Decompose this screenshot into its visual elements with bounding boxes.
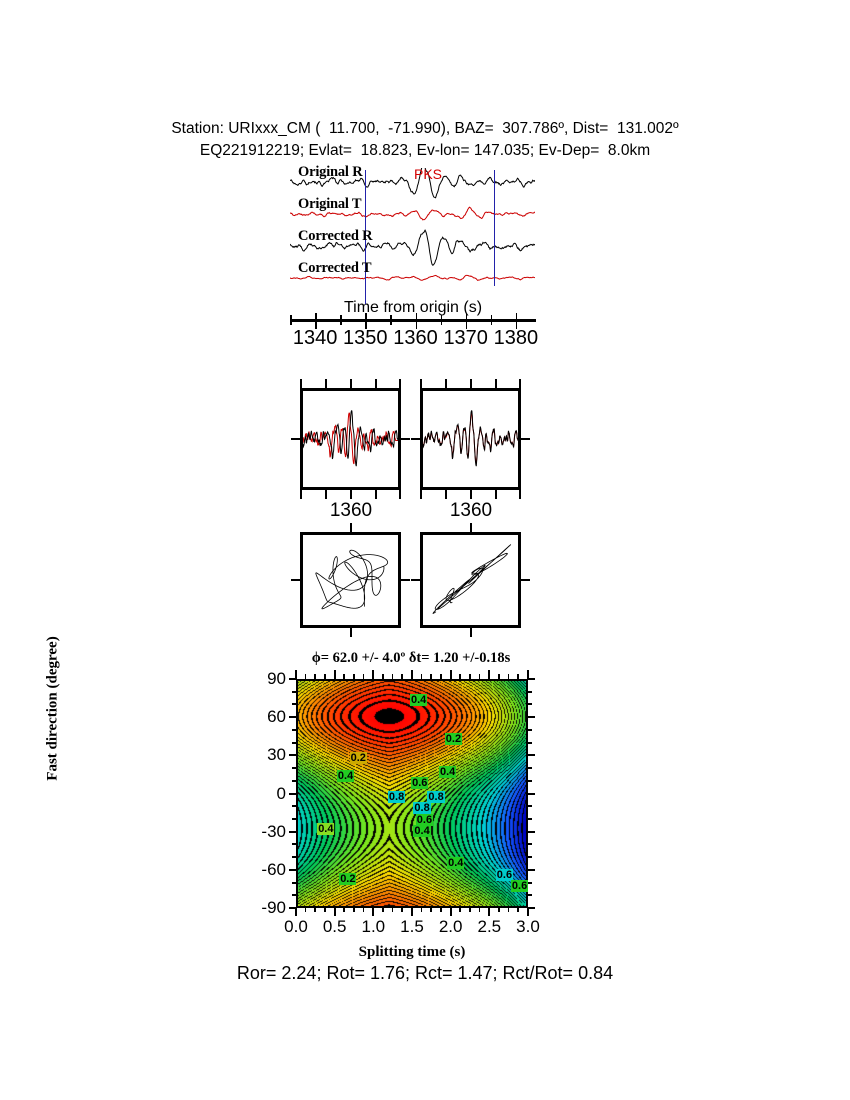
pm-left-btick (350, 628, 352, 637)
contour-right-tick (528, 869, 535, 871)
time-tick-minor (491, 315, 493, 325)
contour-right-tick (528, 831, 535, 833)
contour-y-tick-minor (292, 894, 296, 896)
contour-top-tick (488, 670, 490, 679)
contour-right-tick (528, 678, 535, 680)
contour-x-tick-minor (363, 908, 365, 912)
contour-x-tick-minor (401, 908, 403, 912)
contour-top-tick (334, 670, 336, 679)
pm-right-rtick (521, 579, 530, 581)
mid-left-tick-label: 1360 (327, 500, 375, 522)
contour-y-tick-label-30: 30 (236, 745, 286, 765)
mid-left-rtick (401, 438, 410, 440)
mid-left-tick-5 (399, 379, 401, 388)
contour-top-tick (508, 674, 510, 679)
particle-motion-box-before (300, 532, 401, 628)
mid-left-tick-2 (325, 379, 327, 388)
fast-slow-waveform-box-left (300, 388, 401, 490)
contour-top-tick (343, 674, 345, 679)
contour-y-tick--60 (289, 869, 296, 871)
pm-right-ttick (470, 523, 472, 532)
mid-right-tick-3 (470, 379, 472, 388)
contour-top-tick (517, 674, 519, 679)
trace-label-corrected-t: Corrected T (298, 260, 371, 277)
trace-label-original-r: Original R (298, 164, 362, 181)
event-info-line: EQ221912219; Evlat= 18.823, Ev-lon= 147.… (0, 140, 850, 162)
fast-slow-waveform-box-right (420, 388, 521, 490)
mid-left-tick-4 (375, 379, 377, 388)
contour-x-tick-minor (343, 908, 345, 912)
particle-motion-path (316, 550, 388, 609)
pm-right-btick (470, 628, 472, 637)
contour-right-tick (528, 691, 532, 693)
contour-top-tick (372, 670, 374, 679)
contour-x-tick-minor (353, 908, 355, 912)
contour-y-tick-label-0: 0 (236, 784, 286, 804)
mid-left-btick-3 (350, 490, 352, 499)
contour-y-tick-30 (289, 754, 296, 756)
mid-left-tick-1 (300, 379, 302, 388)
contour-x-tick-minor (382, 908, 384, 912)
contour-y-tick-label-60: 60 (236, 707, 286, 727)
waveform-panel: Original R Original T Corrected R Correc… (290, 168, 535, 298)
contour-top-tick (450, 670, 452, 679)
contour-x-tick-2.0 (450, 908, 452, 916)
contour-x-tick-minor (517, 908, 519, 912)
figure-header: Station: URIxxx_CM ( 11.700, -71.990), B… (0, 118, 850, 162)
mid-left-btick-1 (300, 490, 302, 499)
splitting-error-contour-plot (296, 679, 528, 908)
contour-y-tick--30 (289, 831, 296, 833)
contour-y-tick-label-90: 90 (236, 669, 286, 689)
contour-top-tick (479, 674, 481, 679)
time-tick-minor (290, 315, 292, 325)
contour-y-tick-label--30: -30 (236, 822, 286, 842)
contour-y-tick-minor (292, 856, 296, 858)
contour-top-tick (363, 674, 365, 679)
contour-y-tick-label--90: -90 (236, 898, 286, 918)
time-tick-label-1360: 1360 (388, 327, 444, 350)
pm-left-rtick (401, 579, 410, 581)
contour-right-tick (528, 754, 535, 756)
mid-right-btick-5 (519, 490, 521, 499)
pks-phase-label: PKS (414, 166, 442, 182)
contour-x-tick-minor (440, 908, 442, 912)
contour-x-tick-minor (430, 908, 432, 912)
contour-y-tick-0 (289, 793, 296, 795)
pm-right-ltick (411, 579, 420, 581)
contour-right-tick (528, 907, 535, 909)
contour-right-tick (528, 843, 532, 845)
phase-marker-line-right (494, 170, 495, 286)
contour-top-tick (401, 674, 403, 679)
time-tick-minor (441, 315, 443, 325)
contour-y-tick-minor (292, 767, 296, 769)
contour-top-tick (295, 670, 297, 679)
mid-right-tick-1 (420, 379, 422, 388)
contour-top-tick (440, 674, 442, 679)
contour-x-tick-minor (324, 908, 326, 912)
mid-right-btick-2 (445, 490, 447, 499)
mid-right-tick-4 (495, 379, 497, 388)
pm-left-ltick (291, 579, 300, 581)
contour-x-tick-3.0 (527, 908, 529, 916)
mid-left-btick-4 (375, 490, 377, 499)
contour-x-tick-1.0 (372, 908, 374, 916)
contour-x-tick-2.5 (488, 908, 490, 916)
contour-x-tick-minor (459, 908, 461, 912)
contour-x-tick-0.5 (334, 908, 336, 916)
time-axis-bar (290, 319, 536, 322)
contour-right-tick (528, 894, 532, 896)
contour-top-tick (305, 674, 307, 679)
contour-x-tick-minor (479, 908, 481, 912)
contour-right-tick (528, 729, 532, 731)
particle-motion-path (433, 545, 511, 614)
mid-right-btick-4 (495, 490, 497, 499)
time-tick-label-1370: 1370 (438, 327, 494, 350)
contour-x-tick-minor (469, 908, 471, 912)
contour-top-tick (459, 674, 461, 679)
contour-y-tick-minor (292, 882, 296, 884)
pm-left-ttick (350, 523, 352, 532)
time-tick-minor (390, 315, 392, 325)
contour-y-tick-minor (292, 703, 296, 705)
mid-right-tick-5 (519, 379, 521, 388)
contour-right-tick (528, 767, 532, 769)
station-info-line: Station: URIxxx_CM ( 11.700, -71.990), B… (0, 118, 850, 140)
contour-y-tick-minor (292, 805, 296, 807)
contour-right-tick (528, 742, 532, 744)
contour-top-tick (411, 670, 413, 679)
contour-y-tick-60 (289, 716, 296, 718)
contour-right-tick (528, 703, 532, 705)
contour-right-tick (528, 818, 532, 820)
time-axis-title: Time from origin (s) (290, 299, 536, 317)
fast-component-trace (423, 411, 518, 466)
contour-top-tick (324, 674, 326, 679)
mid-left-ltick (291, 438, 300, 440)
contour-x-tick-0.0 (295, 908, 297, 916)
contour-right-tick (528, 793, 535, 795)
contour-top-tick (392, 674, 394, 679)
time-tick-label-1380: 1380 (488, 327, 544, 350)
contour-y-tick-minor (292, 843, 296, 845)
contour-top-tick (498, 674, 500, 679)
contour-x-tick-1.5 (411, 908, 413, 916)
contour-x-tick-minor (305, 908, 307, 912)
contour-plot-title: ϕ= 62.0 +/- 4.0º δt= 1.20 +/-0.18s (246, 650, 576, 667)
mid-right-ltick (411, 438, 420, 440)
mid-right-tick-label: 1360 (447, 500, 495, 522)
mid-right-rtick (521, 438, 530, 440)
trace-label-original-t: Original T (298, 196, 361, 213)
contour-right-tick (528, 882, 532, 884)
contour-top-tick (382, 674, 384, 679)
contour-x-tick-minor (314, 908, 316, 912)
contour-y-axis-label: Fast direction (degree) (45, 594, 62, 824)
mid-right-tick-2 (445, 379, 447, 388)
time-tick-label-1350: 1350 (337, 327, 393, 350)
contour-canvas (298, 681, 526, 906)
mid-left-tick-3 (350, 379, 352, 388)
mid-left-btick-5 (399, 490, 401, 499)
contour-y-tick-label--60: -60 (236, 860, 286, 880)
contour-top-tick (314, 674, 316, 679)
contour-top-tick (430, 674, 432, 679)
contour-right-tick (528, 716, 535, 718)
mid-left-btick-2 (325, 490, 327, 499)
contour-y-tick-minor (292, 780, 296, 782)
quality-metrics-footer: Ror= 2.24; Rot= 1.76; Rct= 1.47; Rct/Rot… (0, 963, 850, 984)
contour-top-tick (421, 674, 423, 679)
contour-right-tick (528, 856, 532, 858)
fast-component-trace (303, 411, 398, 466)
contour-x-tick-label-3.0: 3.0 (505, 917, 551, 937)
contour-y-tick-minor (292, 742, 296, 744)
contour-x-tick-minor (421, 908, 423, 912)
contour-top-tick (469, 674, 471, 679)
contour-top-tick (353, 674, 355, 679)
contour-x-tick-minor (498, 908, 500, 912)
contour-right-tick (528, 805, 532, 807)
contour-x-axis-label: Splitting time (s) (296, 944, 528, 961)
mid-right-btick-3 (470, 490, 472, 499)
time-tick-label-1340: 1340 (287, 327, 343, 350)
trace-label-corrected-r: Corrected R (298, 228, 372, 245)
particle-motion-box-after (420, 532, 521, 628)
time-axis: Time from origin (s) 1340135013601370138… (290, 305, 536, 355)
contour-y-tick-minor (292, 729, 296, 731)
mid-right-btick-1 (420, 490, 422, 499)
contour-x-tick-minor (392, 908, 394, 912)
contour-y-tick-minor (292, 818, 296, 820)
contour-y-tick-minor (292, 691, 296, 693)
contour-x-tick-minor (508, 908, 510, 912)
time-tick-minor (340, 315, 342, 325)
contour-right-tick (528, 780, 532, 782)
